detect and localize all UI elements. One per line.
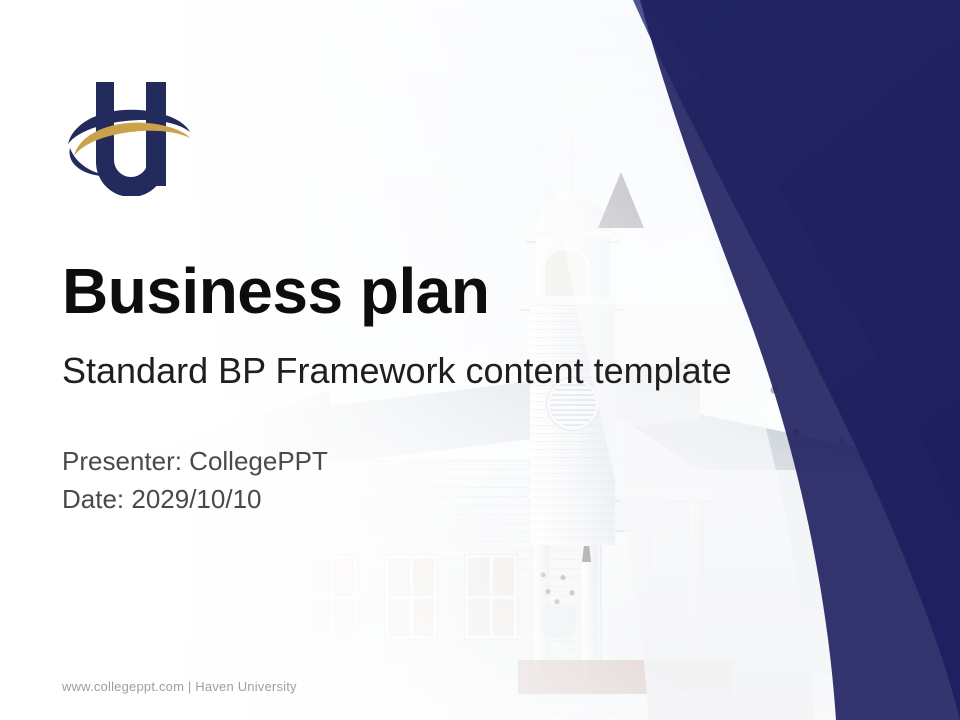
slide-footer: www.collegeppt.com | Haven University (62, 679, 297, 694)
date-line: Date: 2029/10/10 (62, 481, 328, 519)
logo-u-bowl (96, 136, 166, 196)
presenter-line: Presenter: CollegePPT (62, 443, 328, 481)
logo-mark-icon (62, 74, 192, 196)
title-slide: Business plan Standard BP Framework cont… (0, 0, 960, 720)
page-subtitle: Standard BP Framework content template (62, 350, 732, 391)
haven-university-logo (62, 74, 192, 196)
presentation-meta: Presenter: CollegePPT Date: 2029/10/10 (62, 443, 328, 518)
page-title: Business plan (62, 258, 489, 325)
